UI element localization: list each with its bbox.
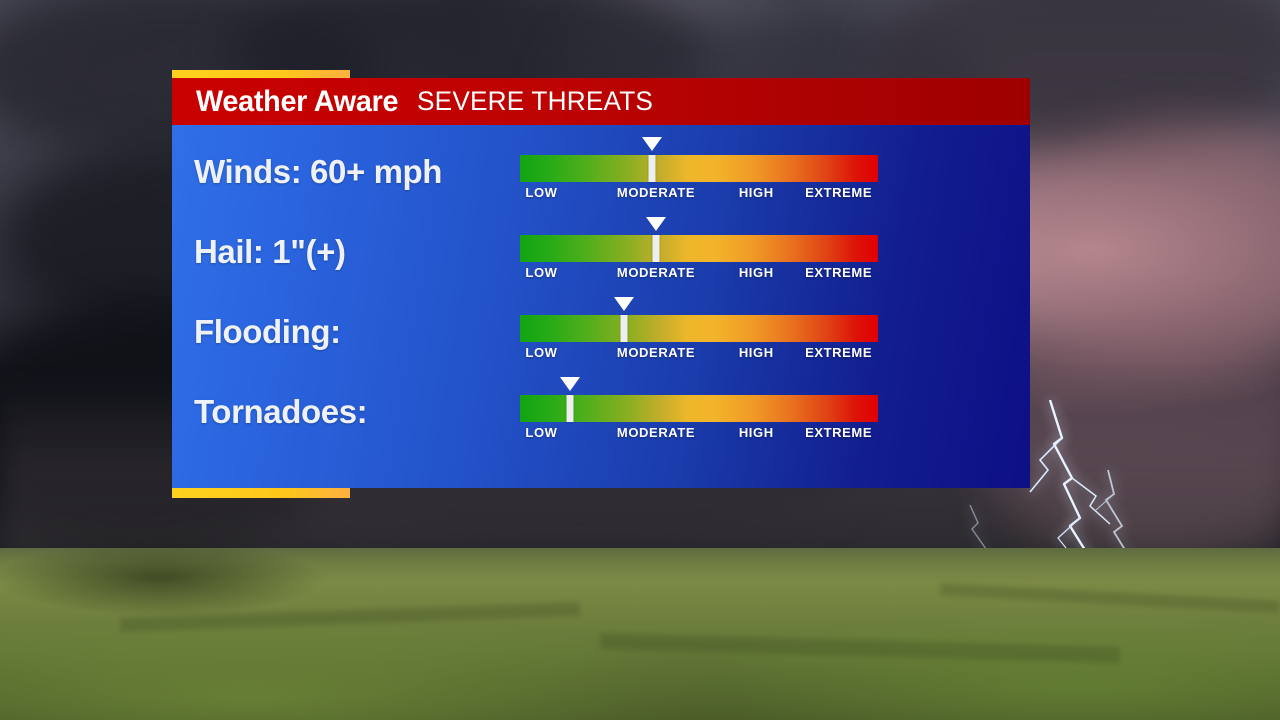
scale-label-extreme: EXTREME (805, 265, 872, 280)
gauge-gradient-bar[interactable] (520, 395, 878, 422)
accent-bar-bottom (172, 488, 350, 498)
gauge-marker (620, 315, 627, 342)
scale-label-extreme: EXTREME (805, 185, 872, 200)
threat-label: Winds: 60+ mph (194, 155, 442, 188)
scale-label-low: LOW (525, 345, 557, 360)
field-shadow (0, 548, 400, 628)
threat-gauge[interactable]: LOW MODERATE HIGH EXTREME (520, 155, 878, 203)
threat-row: Winds: 60+ mph LOW MODERATE HIGH EXTREME (172, 141, 1030, 221)
threat-row: Flooding: LOW MODERATE HIGH EXTREME (172, 301, 1030, 381)
gauge-gradient-bar[interactable] (520, 155, 878, 182)
scale-label-moderate: MODERATE (617, 345, 695, 360)
threat-row: Hail: 1"(+) LOW MODERATE HIGH EXTREME (172, 221, 1030, 301)
page-subtitle: SEVERE THREATS (417, 88, 653, 115)
scale-label-low: LOW (525, 185, 557, 200)
gauge-marker (653, 235, 660, 262)
scale-label-high: HIGH (739, 345, 774, 360)
scale-label-moderate: MODERATE (617, 265, 695, 280)
threat-label: Hail: 1"(+) (194, 235, 346, 268)
gauge-scale-labels: LOW MODERATE HIGH EXTREME (520, 425, 878, 443)
scale-label-extreme: EXTREME (805, 425, 872, 440)
gauge-pointer-icon (646, 217, 666, 231)
panel-body: Winds: 60+ mph LOW MODERATE HIGH EXTREME… (172, 125, 1030, 488)
threat-label: Flooding: (194, 315, 341, 348)
scale-label-low: LOW (525, 265, 557, 280)
threat-gauge[interactable]: LOW MODERATE HIGH EXTREME (520, 315, 878, 363)
accent-bar-top (172, 70, 350, 78)
page-title: Weather Aware (196, 87, 398, 117)
scale-label-high: HIGH (739, 185, 774, 200)
threat-label: Tornadoes: (194, 395, 367, 428)
panel-header: Weather Aware SEVERE THREATS (172, 78, 1030, 125)
threat-row: Tornadoes: LOW MODERATE HIGH EXTREME (172, 381, 1030, 461)
gauge-pointer-icon (614, 297, 634, 311)
gauge-pointer-icon (642, 137, 662, 151)
scale-label-high: HIGH (739, 425, 774, 440)
threat-gauge[interactable]: LOW MODERATE HIGH EXTREME (520, 235, 878, 283)
threat-gauge[interactable]: LOW MODERATE HIGH EXTREME (520, 395, 878, 443)
gauge-gradient-bar[interactable] (520, 315, 878, 342)
scale-label-low: LOW (525, 425, 557, 440)
gauge-scale-labels: LOW MODERATE HIGH EXTREME (520, 265, 878, 283)
severe-threats-panel: Weather Aware SEVERE THREATS Winds: 60+ … (172, 70, 1030, 498)
scale-label-high: HIGH (739, 265, 774, 280)
gauge-marker (649, 155, 656, 182)
gauge-gradient-bar[interactable] (520, 235, 878, 262)
scale-label-moderate: MODERATE (617, 425, 695, 440)
gauge-marker (567, 395, 574, 422)
scale-label-extreme: EXTREME (805, 345, 872, 360)
gauge-scale-labels: LOW MODERATE HIGH EXTREME (520, 345, 878, 363)
gauge-pointer-icon (560, 377, 580, 391)
scale-label-moderate: MODERATE (617, 185, 695, 200)
gauge-scale-labels: LOW MODERATE HIGH EXTREME (520, 185, 878, 203)
